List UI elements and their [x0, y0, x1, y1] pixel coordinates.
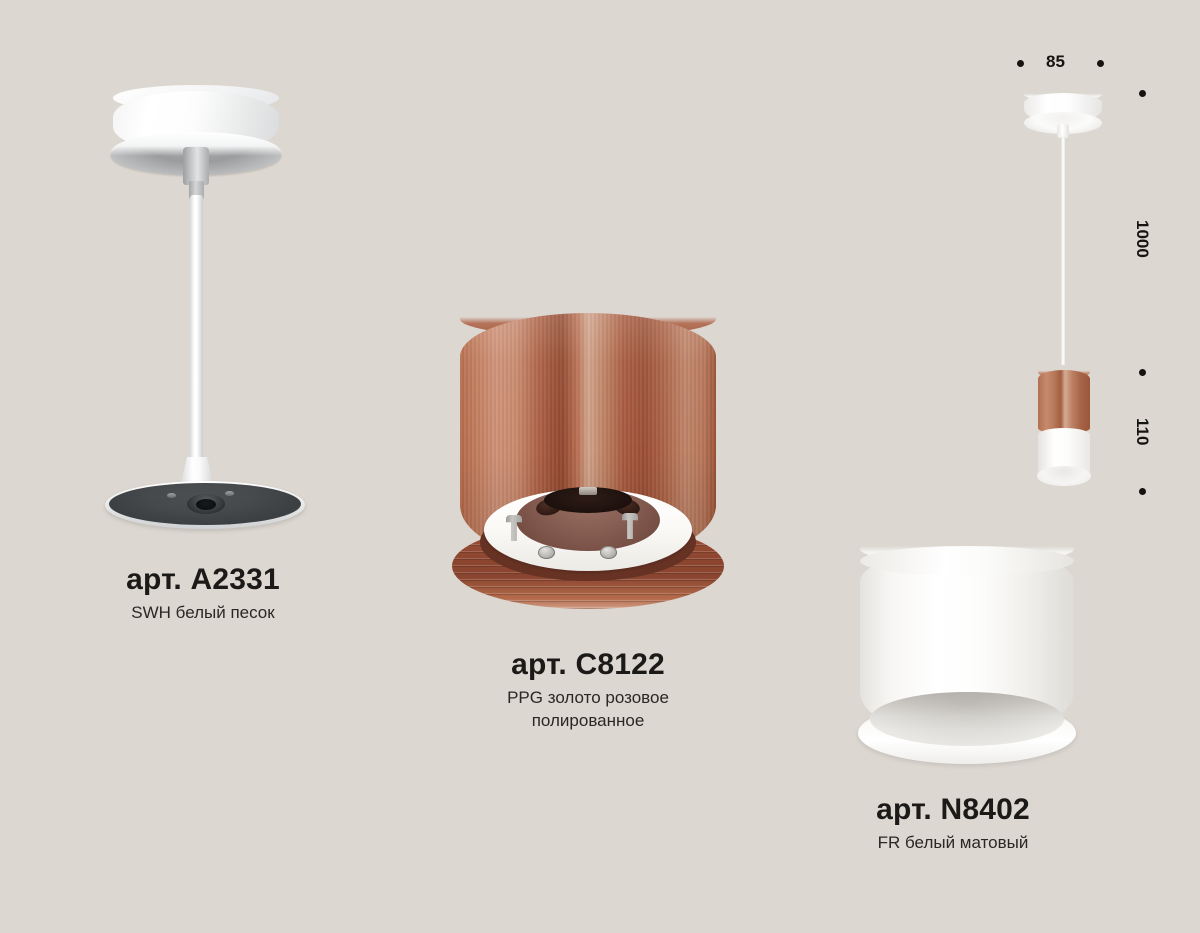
product-label-n8402: арт. N8402 FR белый матовый: [798, 793, 1108, 855]
dimension-tick-dot: [1139, 488, 1146, 495]
dimension-tick-dot: [1139, 369, 1146, 376]
suspension-rod: [190, 195, 203, 467]
assembly-copper-body: [1038, 370, 1090, 434]
product-image-assembly: [1018, 88, 1128, 498]
socket-tab: [579, 487, 597, 495]
product-description-n8402: FR белый матовый: [798, 832, 1108, 855]
product-label-c8122: арт. C8122 PPG золото розовое полированн…: [443, 648, 733, 733]
product-code-n8402: арт. N8402: [798, 793, 1108, 826]
product-diagram-canvas: арт. A2331 SWH белый песок арт. C8122 PP…: [0, 0, 1200, 933]
product-image-c8122: [438, 303, 738, 623]
dimension-tick-dot: [1017, 60, 1024, 67]
product-description-a2331: SWH белый песок: [48, 602, 358, 625]
product-image-a2331: [105, 85, 305, 530]
dimension-tick-dot: [1097, 60, 1104, 67]
dimension-tick-dot: [1139, 90, 1146, 97]
dimension-label-110: 110: [1132, 418, 1152, 445]
product-label-a2331: арт. A2331 SWH белый песок: [48, 563, 358, 625]
product-description-c8122: PPG золото розовое полированное: [443, 687, 733, 733]
shade-inner-shadow: [870, 692, 1064, 746]
ring-screw: [538, 546, 555, 559]
product-code-a2331: арт. A2331: [48, 563, 358, 596]
cable-gland: [183, 147, 209, 185]
dimension-label-85: 85: [1046, 52, 1065, 72]
product-image-n8402: [848, 534, 1088, 766]
assembly-shade-bottom: [1037, 466, 1091, 486]
lamp-socket-inner: [196, 499, 216, 510]
ring-screw: [600, 546, 617, 559]
assembly-suspension-cord: [1061, 136, 1065, 373]
plate-screw: [225, 491, 234, 496]
shade-top-edge: [860, 546, 1074, 576]
plate-screw: [167, 493, 176, 498]
product-code-c8122: арт. C8122: [443, 648, 733, 681]
dimension-label-1000: 1000: [1132, 220, 1152, 258]
